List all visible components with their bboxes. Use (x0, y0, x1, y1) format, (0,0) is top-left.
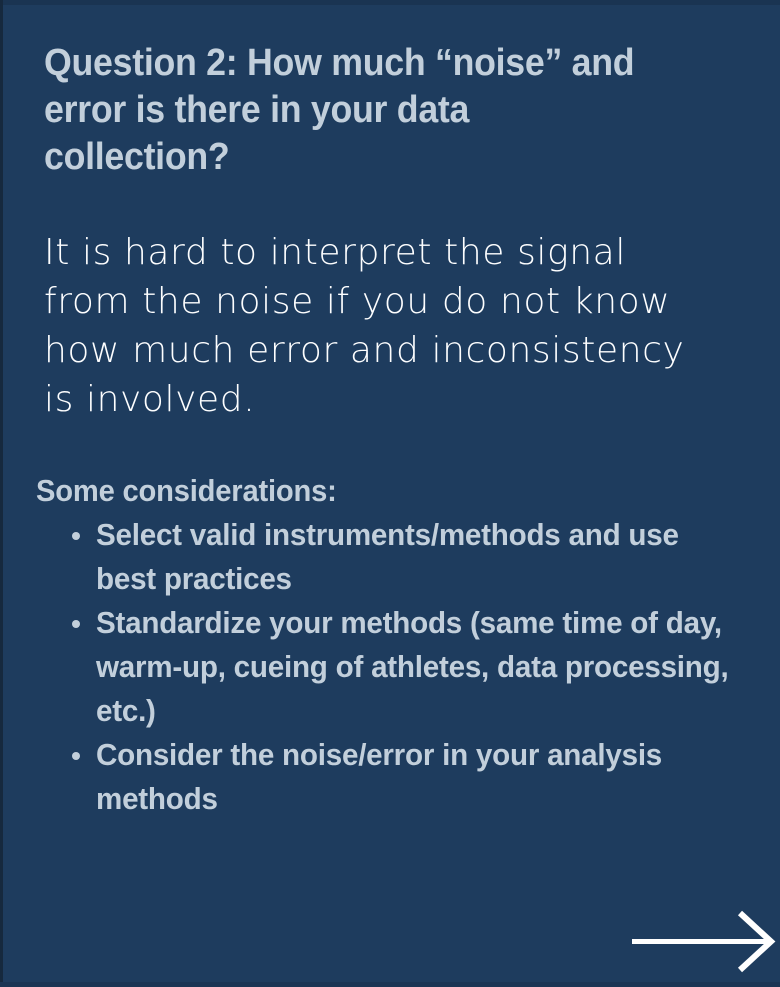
list-item: Standardize your methods (same time of d… (60, 601, 760, 733)
list-item: Select valid instruments/methods and use… (60, 513, 760, 601)
slide-body-paragraph: It is hard to interpret the signal from … (44, 228, 724, 424)
list-item: Consider the noise/error in your analysi… (60, 733, 760, 821)
considerations-list: Select valid instruments/methods and use… (60, 513, 760, 821)
slide-heading: Question 2: How much “noise” and error i… (44, 40, 655, 181)
list-item-label: Consider the noise/error in your analysi… (96, 733, 730, 821)
list-item-label: Standardize your methods (same time of d… (96, 601, 730, 733)
arrow-right-icon[interactable] (628, 905, 778, 980)
slide-content: Question 2: How much “noise” and error i… (0, 0, 780, 987)
slide-canvas: Question 2: How much “noise” and error i… (0, 0, 780, 987)
considerations-label: Some considerations: (36, 471, 337, 511)
list-item-label: Select valid instruments/methods and use… (96, 513, 730, 601)
